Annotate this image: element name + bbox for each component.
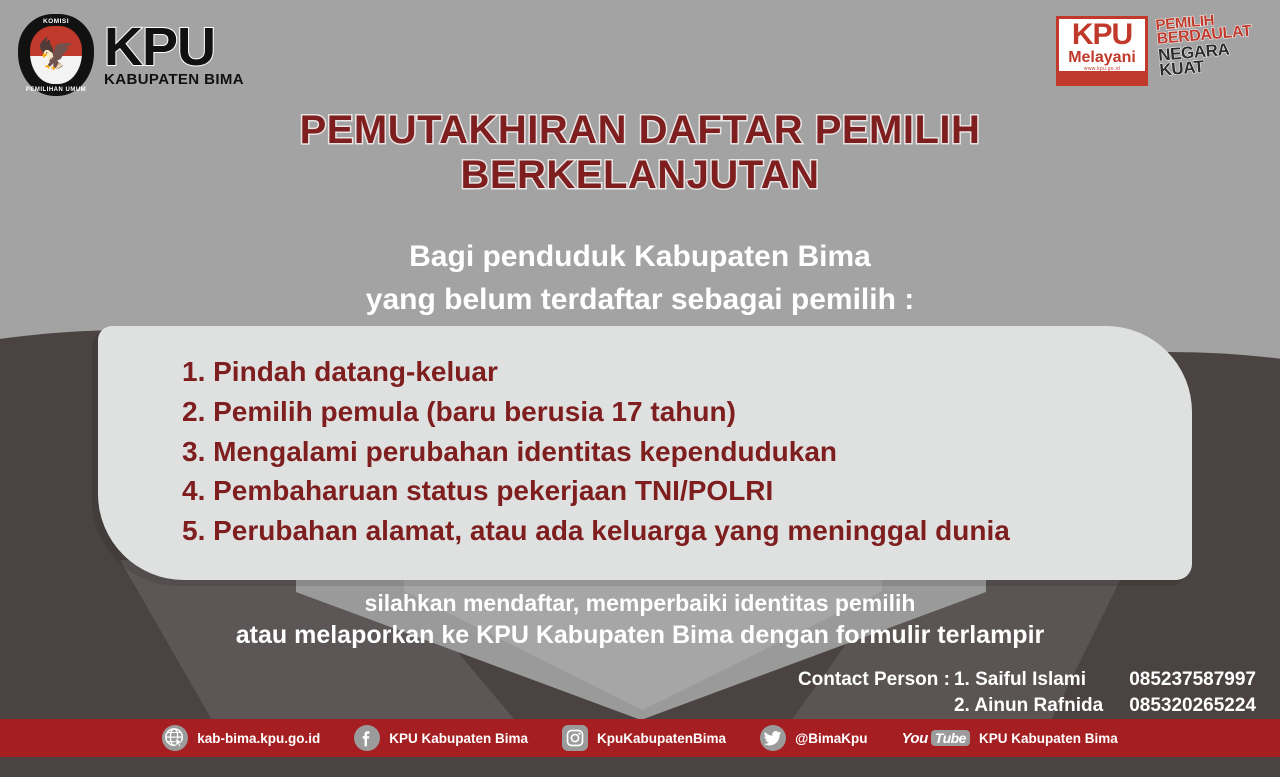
contact-phone: 085237587997 [1129, 667, 1256, 693]
kpu-wordmark: KPU [104, 24, 244, 72]
footer-item-facebook[interactable]: KPU Kabupaten Bima [354, 725, 528, 751]
melayani-kpu-text: KPU [1059, 21, 1145, 50]
kpu-melayani-logo: KPU Melayani www.kpu.go.id [1056, 16, 1148, 86]
facebook-icon [354, 725, 380, 751]
contact-name: Ainun Rafnida [974, 695, 1103, 716]
poster-canvas: 🦅 KOMISI PEMILIHAN UMUM KPU KABUPATEN BI… [0, 0, 1280, 777]
garuda-emblem-icon: 🦅 KOMISI PEMILIHAN UMUM [18, 14, 94, 96]
list-item: 3. Mengalami perubahan identitas kependu… [182, 432, 1192, 472]
footer-item-website[interactable]: kab-bima.kpu.go.id [162, 725, 320, 751]
criteria-list: 1. Pindah datang-keluar 2. Pemilih pemul… [182, 352, 1192, 551]
subtitle-line-1: Bagi penduduk Kabupaten Bima [0, 236, 1280, 279]
pemilih-berdaulat-slogan: PEMILIH BERDAULAT NEGARA KUAT [1155, 9, 1273, 90]
footer-label-youtube: KPU Kabupaten Bima [979, 731, 1118, 746]
footer-item-youtube[interactable]: You Tube KPU Kabupaten Bima [901, 730, 1117, 747]
cta-line-1: silahkan mendaftar, memperbaiki identita… [0, 588, 1280, 619]
contact-index: 1. [954, 669, 975, 690]
footer-label-facebook: KPU Kabupaten Bima [389, 731, 528, 746]
youtube-you-text: You [901, 730, 927, 747]
list-item: 1. Pindah datang-keluar [182, 352, 1192, 392]
contact-name: Saiful Islami [975, 669, 1086, 690]
twitter-icon [760, 725, 786, 751]
footer-label-website: kab-bima.kpu.go.id [197, 731, 320, 746]
list-item: 4. Pembaharuan status pekerjaan TNI/POLR… [182, 471, 1192, 511]
subtitle: Bagi penduduk Kabupaten Bima yang belum … [0, 236, 1280, 321]
footer-item-instagram[interactable]: KpuKabupatenBima [562, 725, 726, 751]
contact-row: Contact Person : 1. Saiful Islami 085237… [798, 667, 1256, 693]
emblem-top-label: KOMISI [43, 18, 69, 25]
contact-block: Contact Person : 1. Saiful Islami 085237… [798, 667, 1256, 718]
globe-icon [162, 725, 188, 751]
footer-label-instagram: KpuKabupatenBima [597, 731, 726, 746]
contact-row: 2. Ainun Rafnida 085320265224 [798, 693, 1256, 719]
criteria-panel: 1. Pindah datang-keluar 2. Pemilih pemul… [98, 326, 1192, 580]
kpu-logo-left: 🦅 KOMISI PEMILIHAN UMUM KPU KABUPATEN BI… [18, 14, 244, 96]
footer-bottom-strip [0, 757, 1280, 777]
call-to-action: silahkan mendaftar, memperbaiki identita… [0, 588, 1280, 653]
list-item: 5. Perubahan alamat, atau ada keluarga y… [182, 511, 1192, 551]
footer-label-twitter: @BimaKpu [795, 731, 867, 746]
emblem-bottom-label: PEMILIHAN UMUM [26, 87, 86, 93]
page-title-line-2: BERKELANJUTAN [0, 153, 1280, 198]
kpu-region-label: KABUPATEN BIMA [104, 73, 244, 86]
footer-item-twitter[interactable]: @BimaKpu [760, 725, 867, 751]
cta-line-2: atau melaporkan ke KPU Kabupaten Bima de… [0, 619, 1280, 653]
instagram-icon [562, 725, 588, 751]
page-title-line-1: PEMUTAKHIRAN DAFTAR PEMILIH [0, 108, 1280, 153]
list-item: 2. Pemilih pemula (baru berusia 17 tahun… [182, 392, 1192, 432]
contact-index: 2. [954, 695, 974, 716]
social-footer-bar: kab-bima.kpu.go.id KPU Kabupaten Bima Kp… [0, 719, 1280, 757]
subtitle-line-2: yang belum terdaftar sebagai pemilih : [0, 279, 1280, 322]
youtube-icon: You Tube [901, 730, 969, 747]
melayani-red-bar [1059, 71, 1145, 83]
youtube-tube-text: Tube [931, 730, 970, 746]
contact-phone: 085320265224 [1129, 693, 1256, 719]
contact-label: Contact Person : [798, 667, 954, 693]
page-title: PEMUTAKHIRAN DAFTAR PEMILIH BERKELANJUTA… [0, 108, 1280, 198]
melayani-text: Melayani [1059, 50, 1145, 66]
